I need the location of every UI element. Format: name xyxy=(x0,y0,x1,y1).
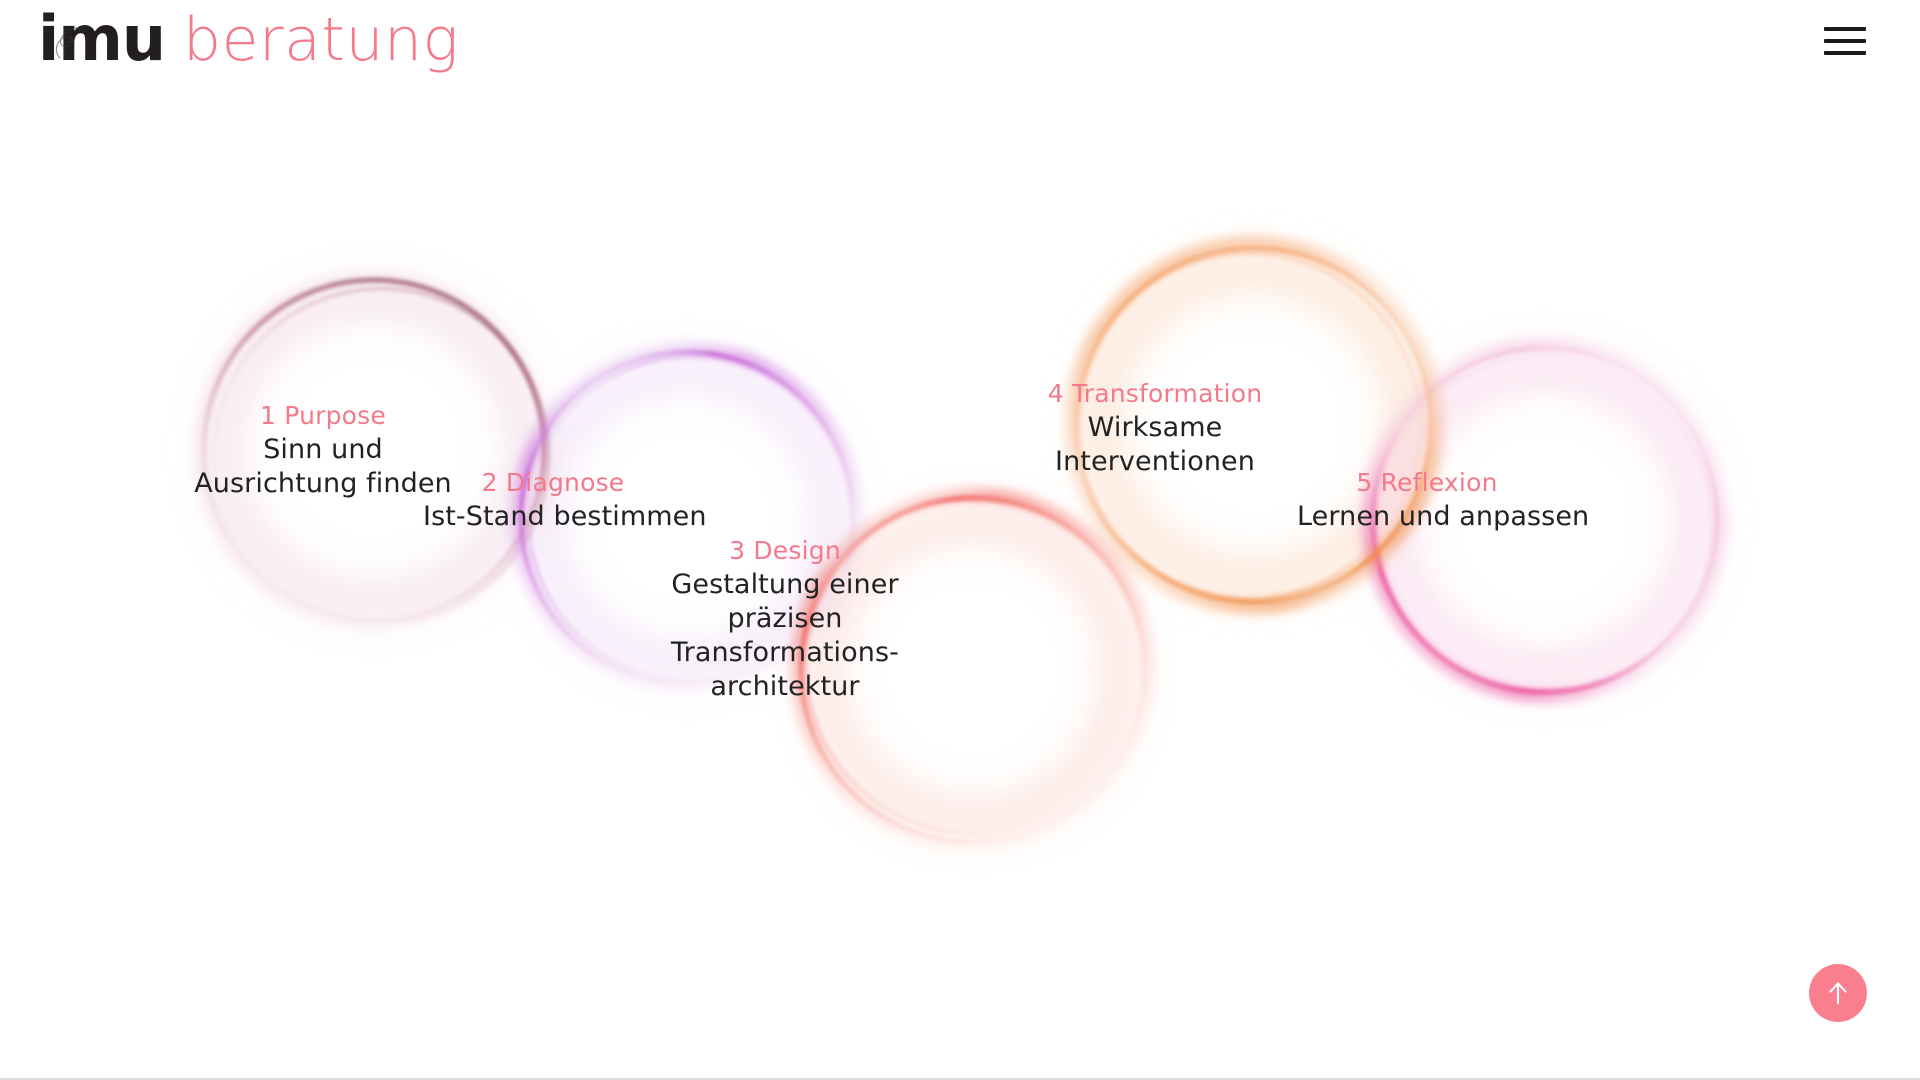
site-logo[interactable]: imu beratung xyxy=(38,8,459,70)
step-3-description: Gestaltung einer präzisen Transformation… xyxy=(660,568,910,703)
hamburger-bar-2 xyxy=(1824,39,1866,43)
process-step-5: 5 Reflexion Lernen und anpassen xyxy=(1297,467,1557,534)
step-4-title: 4 Transformation xyxy=(1030,378,1280,409)
step-4-desc-line-2: Interventionen xyxy=(1030,445,1280,479)
hamburger-bar-1 xyxy=(1824,27,1866,31)
logo-word-text: beratung xyxy=(183,10,459,70)
process-diagram: 1 Purpose Sinn und Ausrichtung finden 2 … xyxy=(0,0,1920,1080)
step-3-desc-line-2: präzisen xyxy=(660,602,910,636)
hamburger-menu-icon[interactable] xyxy=(1824,24,1866,58)
step-2-description: Ist-Stand bestimmen xyxy=(423,500,683,534)
step-3-title: 3 Design xyxy=(660,535,910,566)
process-step-1: 1 Purpose Sinn und Ausrichtung finden xyxy=(183,400,463,501)
scroll-to-top-button[interactable] xyxy=(1809,964,1867,1022)
step-5-title: 5 Reflexion xyxy=(1297,467,1557,498)
process-step-4: 4 Transformation Wirksame Interventionen xyxy=(1030,378,1280,479)
process-step-2: 2 Diagnose Ist-Stand bestimmen xyxy=(423,467,683,534)
step-4-description: Wirksame Interventionen xyxy=(1030,411,1280,479)
step-2-desc-line-1: Ist-Stand bestimmen xyxy=(423,500,683,534)
logo-mark-text: imu xyxy=(38,8,165,70)
step-1-description: Sinn und Ausrichtung finden xyxy=(183,433,463,501)
step-3-desc-line-3: Transformations- xyxy=(660,636,910,670)
step-1-desc-line-2: Ausrichtung finden xyxy=(183,467,463,501)
step-3-desc-line-4: architektur xyxy=(660,670,910,704)
step-5-desc-line-1: Lernen und anpassen xyxy=(1297,500,1557,534)
process-step-3: 3 Design Gestaltung einer präzisen Trans… xyxy=(660,535,910,703)
hamburger-bar-3 xyxy=(1824,51,1866,55)
arrow-up-icon xyxy=(1826,980,1850,1006)
step-4-desc-line-1: Wirksame xyxy=(1030,411,1280,445)
step-1-title: 1 Purpose xyxy=(183,400,463,431)
step-5-description: Lernen und anpassen xyxy=(1297,500,1557,534)
site-header: imu beratung xyxy=(0,0,1920,110)
step-2-title: 2 Diagnose xyxy=(423,467,683,498)
process-rings-graphic xyxy=(0,0,1920,1080)
step-1-desc-line-1: Sinn und xyxy=(183,433,463,467)
page-root: imu beratung xyxy=(0,0,1920,1080)
step-3-desc-line-1: Gestaltung einer xyxy=(660,568,910,602)
